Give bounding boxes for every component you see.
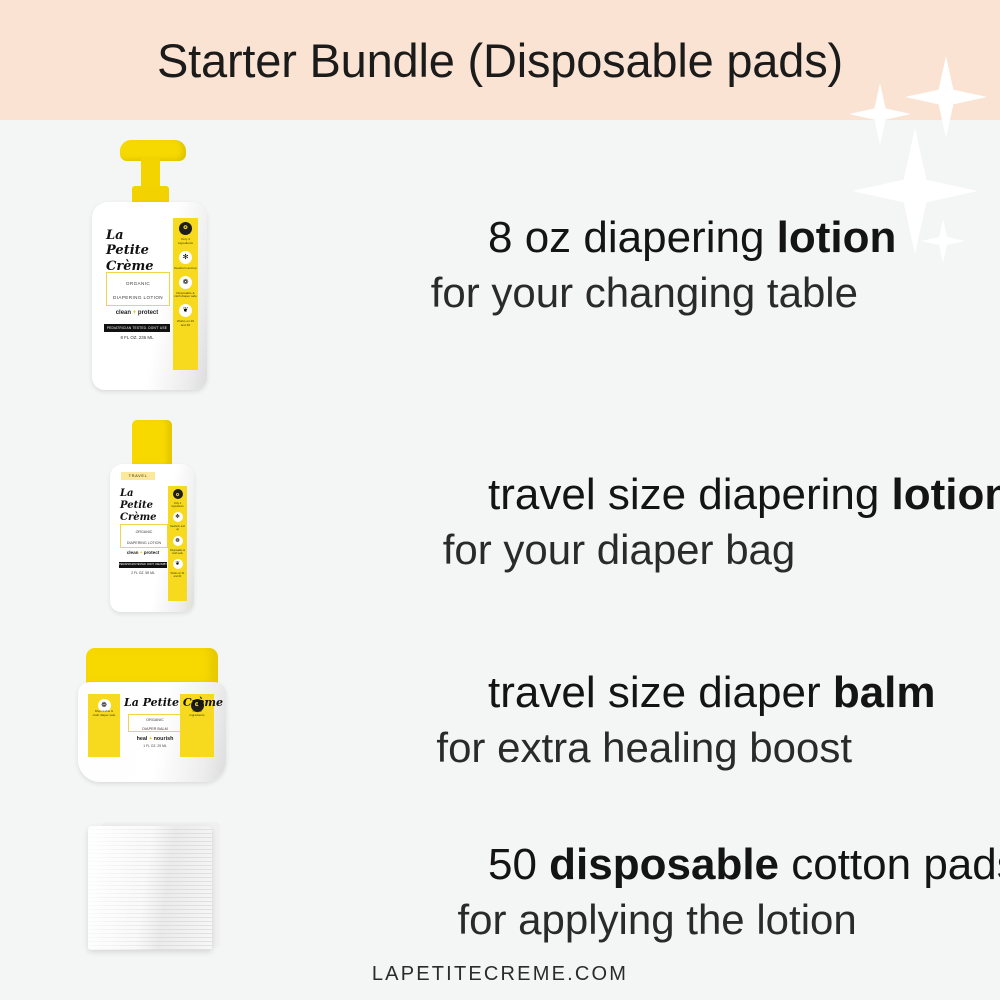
website-footer[interactable]: LAPETITECREME.COM — [0, 963, 1000, 986]
product-type-line1: ORGANIC — [129, 718, 181, 724]
travel-tag: TRAVEL — [121, 472, 155, 480]
badge-caption: Newborn and up — [169, 525, 187, 531]
badge-caption: Disposable & cloth safe — [169, 549, 187, 555]
tagline-separator: + — [133, 310, 137, 316]
starter-bundle-graphic: Starter Bundle (Disposable pads) La Peti… — [0, 0, 1000, 1000]
headline-suffix: cotton pads — [779, 840, 1000, 889]
poop-wipe-icon: ❦ — [173, 559, 183, 569]
jar-label: La Petite Crème ORGANIC DIAPER BALM heal… — [124, 696, 186, 748]
page-title: Starter Bundle (Disposable pads) — [0, 0, 1000, 120]
product-image-diaper-balm: ❁ Disposable & cloth diaper safe ✪ Only … — [0, 630, 245, 810]
bundle-item-row: La Petite Crème ORGANIC DIAPERING LOTION… — [0, 132, 1000, 398]
product-type-line2: DIAPERING LOTION — [121, 541, 167, 547]
product-image-cotton-pads — [0, 812, 245, 972]
brand-logo-line1: La Petite — [106, 228, 168, 259]
headline-prefix: travel size diaper — [488, 668, 833, 717]
usda-organic-seal-icon: ✪ — [179, 222, 192, 235]
tagline-separator: + — [149, 736, 152, 742]
headline-emphasis: balm — [833, 668, 936, 717]
brand-logo-line2: Crème — [120, 512, 166, 524]
item-headline: 50 disposable cotton pads — [488, 841, 1000, 889]
black-band: PEDIATRICIAN TESTED. DON'T USE BABY WIPE… — [119, 562, 167, 568]
headline-prefix: 8 oz diapering — [488, 213, 777, 262]
tagline: heal + nourish — [124, 736, 186, 742]
tagline-left: clean — [116, 310, 131, 316]
item-headline: 8 oz diapering lotion — [488, 214, 1000, 262]
item-headline: travel size diapering lotion — [488, 471, 1000, 519]
pad-stack-front — [88, 826, 212, 950]
item-subline: for extra healing boost — [245, 724, 1000, 771]
product-type-box: ORGANIC DIAPERING LOTION — [120, 524, 168, 548]
no-diaper-rash-icon: ✻ — [173, 512, 183, 522]
tagline-right: protect — [144, 550, 160, 555]
tagline-right: nourish — [154, 736, 174, 742]
bottle-label: La Petite Crème ORGANIC DIAPERING LOTION… — [100, 214, 199, 374]
badge-caption: Works on #1 and #2 — [174, 320, 197, 328]
volume-text: 1 FL OZ. 29 ML — [124, 744, 186, 748]
product-type-box: ORGANIC DIAPERING LOTION — [106, 272, 170, 306]
cloth-diaper-safe-icon: ❁ — [179, 276, 192, 289]
brand-logo: La Petite Crème — [124, 696, 186, 709]
volume-text: 2 FL OZ. 59 ML — [120, 571, 166, 575]
product-type-line2: DIAPER BALM — [129, 727, 181, 733]
bundle-item-copy: 50 disposable cotton pads for applying t… — [245, 841, 1000, 944]
flip-cap-icon — [132, 420, 172, 468]
headline-prefix: travel size diapering — [488, 470, 892, 519]
bundle-item-copy: 8 oz diapering lotion for your changing … — [245, 214, 1000, 317]
tagline-right: protect — [138, 310, 158, 316]
item-subline: for your diaper bag — [245, 526, 1000, 573]
badge-panel-left: ❁ Disposable & cloth diaper safe — [88, 694, 120, 757]
pad-fold-shading — [88, 826, 212, 950]
no-diaper-rash-icon: ✻ — [179, 251, 192, 264]
product-type-line1: ORGANIC — [121, 530, 167, 536]
badge-panel: ✪ Only 4 ingredients ✻ Newborn and up ❁ … — [173, 218, 198, 370]
usda-organic-seal-icon: ✪ — [173, 489, 183, 499]
brand-logo-line1: La Petite — [120, 488, 166, 512]
bundle-item-row: ❁ Disposable & cloth diaper safe ✪ Only … — [0, 630, 1000, 810]
item-subline: for your changing table — [245, 269, 1000, 316]
tagline-left: heal — [137, 736, 148, 742]
bundle-item-copy: travel size diaper balm for extra healin… — [245, 669, 1000, 772]
headline-emphasis: lotion — [777, 213, 897, 262]
product-type-line1: ORGANIC — [107, 280, 169, 287]
item-headline: travel size diaper balm — [488, 669, 1000, 717]
bundle-item-row: 50 disposable cotton pads for applying t… — [0, 812, 1000, 972]
pump-bottle-graphic: La Petite Crème ORGANIC DIAPERING LOTION… — [92, 140, 207, 390]
headline-prefix: 50 — [488, 840, 549, 889]
cloth-diaper-safe-icon: ❁ — [173, 536, 183, 546]
product-type-box: ORGANIC DIAPER BALM — [128, 714, 182, 732]
bundle-item-row: TRAVEL La Petite Crème ORGANIC DIAPERING… — [0, 412, 1000, 632]
product-image-8oz-lotion: La Petite Crème ORGANIC DIAPERING LOTION… — [0, 132, 245, 398]
tagline-left: clean — [127, 550, 139, 555]
poop-wipe-icon: ❦ — [179, 304, 192, 317]
headline-emphasis: disposable — [549, 840, 779, 889]
item-subline: for applying the lotion — [245, 896, 1000, 943]
balm-jar-graphic: ❁ Disposable & cloth diaper safe ✪ Only … — [78, 648, 226, 782]
badge-panel: ✪ Only 4 ingredients ✻ Newborn and up ❁ … — [168, 486, 187, 601]
badge-caption: Only 4 ingredients — [169, 502, 187, 508]
badge-caption: Works on #1 and #2 — [169, 572, 187, 578]
tagline: clean + protect — [120, 550, 166, 555]
badge-caption: Only 4 ingredients — [174, 238, 197, 246]
badge-caption: Disposable & cloth diaper safe — [174, 292, 197, 300]
brand-logo: La Petite Crème — [106, 228, 168, 274]
tagline-separator: + — [140, 550, 143, 555]
cotton-pad-stack-graphic — [88, 826, 228, 954]
travel-bottle-graphic: TRAVEL La Petite Crème ORGANIC DIAPERING… — [110, 420, 194, 612]
product-type-line2: DIAPERING LOTION — [107, 294, 169, 301]
product-image-travel-lotion: TRAVEL La Petite Crème ORGANIC DIAPERING… — [0, 412, 245, 632]
brand-logo: La Petite Crème — [120, 488, 166, 524]
black-band: PEDIATRICIAN TESTED. DON'T USE BABY WIPE… — [104, 324, 170, 332]
volume-text: 8 FL OZ. 236 ML — [106, 335, 168, 340]
badge-caption: Only 5 ingredients — [186, 710, 209, 718]
tagline: clean + protect — [106, 310, 168, 316]
headline-emphasis: lotion — [892, 470, 1000, 519]
bundle-item-copy: travel size diapering lotion for your di… — [245, 471, 1000, 574]
bottle-label: La Petite Crème ORGANIC DIAPERING LOTION… — [116, 484, 188, 606]
badge-caption: Newborn and up — [174, 267, 197, 271]
badge-caption: Disposable & cloth diaper safe — [93, 710, 116, 718]
